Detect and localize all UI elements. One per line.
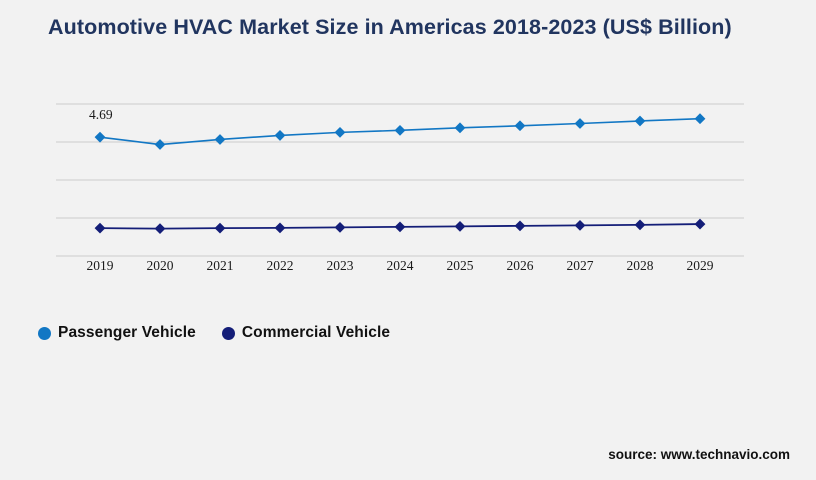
x-tick-label: 2022 xyxy=(250,258,310,274)
data-point-marker[interactable] xyxy=(95,223,106,234)
x-tick-label: 2027 xyxy=(550,258,610,274)
data-point-label: 4.69 xyxy=(89,107,113,123)
data-point-marker[interactable] xyxy=(695,219,706,230)
data-point-marker[interactable] xyxy=(155,223,166,234)
data-point-marker[interactable] xyxy=(695,113,706,124)
data-point-marker[interactable] xyxy=(395,221,406,232)
data-point-marker[interactable] xyxy=(515,220,526,231)
data-point-marker[interactable] xyxy=(335,222,346,233)
legend-item-1[interactable]: Passenger Vehicle xyxy=(38,324,196,342)
data-point-marker[interactable] xyxy=(335,127,346,138)
legend-label: Commercial Vehicle xyxy=(242,324,390,342)
x-tick-label: 2020 xyxy=(130,258,190,274)
legend-label: Passenger Vehicle xyxy=(58,324,196,342)
source-note: source: www.technavio.com xyxy=(608,447,790,462)
plot-area: 4.69 xyxy=(56,104,744,256)
data-point-marker[interactable] xyxy=(275,130,286,141)
x-tick-label: 2025 xyxy=(430,258,490,274)
circle-icon xyxy=(38,327,51,340)
chart-legend: Passenger VehicleCommercial Vehicle xyxy=(38,324,390,342)
data-point-marker[interactable] xyxy=(215,223,226,234)
chart-title: Automotive HVAC Market Size in Americas … xyxy=(48,14,778,41)
data-point-marker[interactable] xyxy=(215,134,226,145)
data-point-marker[interactable] xyxy=(275,222,286,233)
x-tick-label: 2024 xyxy=(370,258,430,274)
x-tick-label: 2021 xyxy=(190,258,250,274)
data-point-marker[interactable] xyxy=(575,220,586,231)
x-axis: 2019202020212022202320242025202620272028… xyxy=(56,258,744,280)
x-tick-label: 2028 xyxy=(610,258,670,274)
line-chart-svg xyxy=(56,104,744,256)
data-point-marker[interactable] xyxy=(455,221,466,232)
data-point-marker[interactable] xyxy=(635,219,646,230)
data-point-marker[interactable] xyxy=(395,125,406,136)
data-point-marker[interactable] xyxy=(575,118,586,129)
legend-item-2[interactable]: Commercial Vehicle xyxy=(222,324,390,342)
data-point-marker[interactable] xyxy=(515,120,526,131)
chart-container: Automotive HVAC Market Size in Americas … xyxy=(0,0,816,480)
x-tick-label: 2029 xyxy=(670,258,730,274)
data-point-marker[interactable] xyxy=(635,116,646,127)
data-point-marker[interactable] xyxy=(95,132,106,143)
circle-icon xyxy=(222,327,235,340)
x-tick-label: 2026 xyxy=(490,258,550,274)
x-tick-label: 2019 xyxy=(70,258,130,274)
x-tick-label: 2023 xyxy=(310,258,370,274)
data-point-marker[interactable] xyxy=(155,139,166,150)
data-point-marker[interactable] xyxy=(455,122,466,133)
